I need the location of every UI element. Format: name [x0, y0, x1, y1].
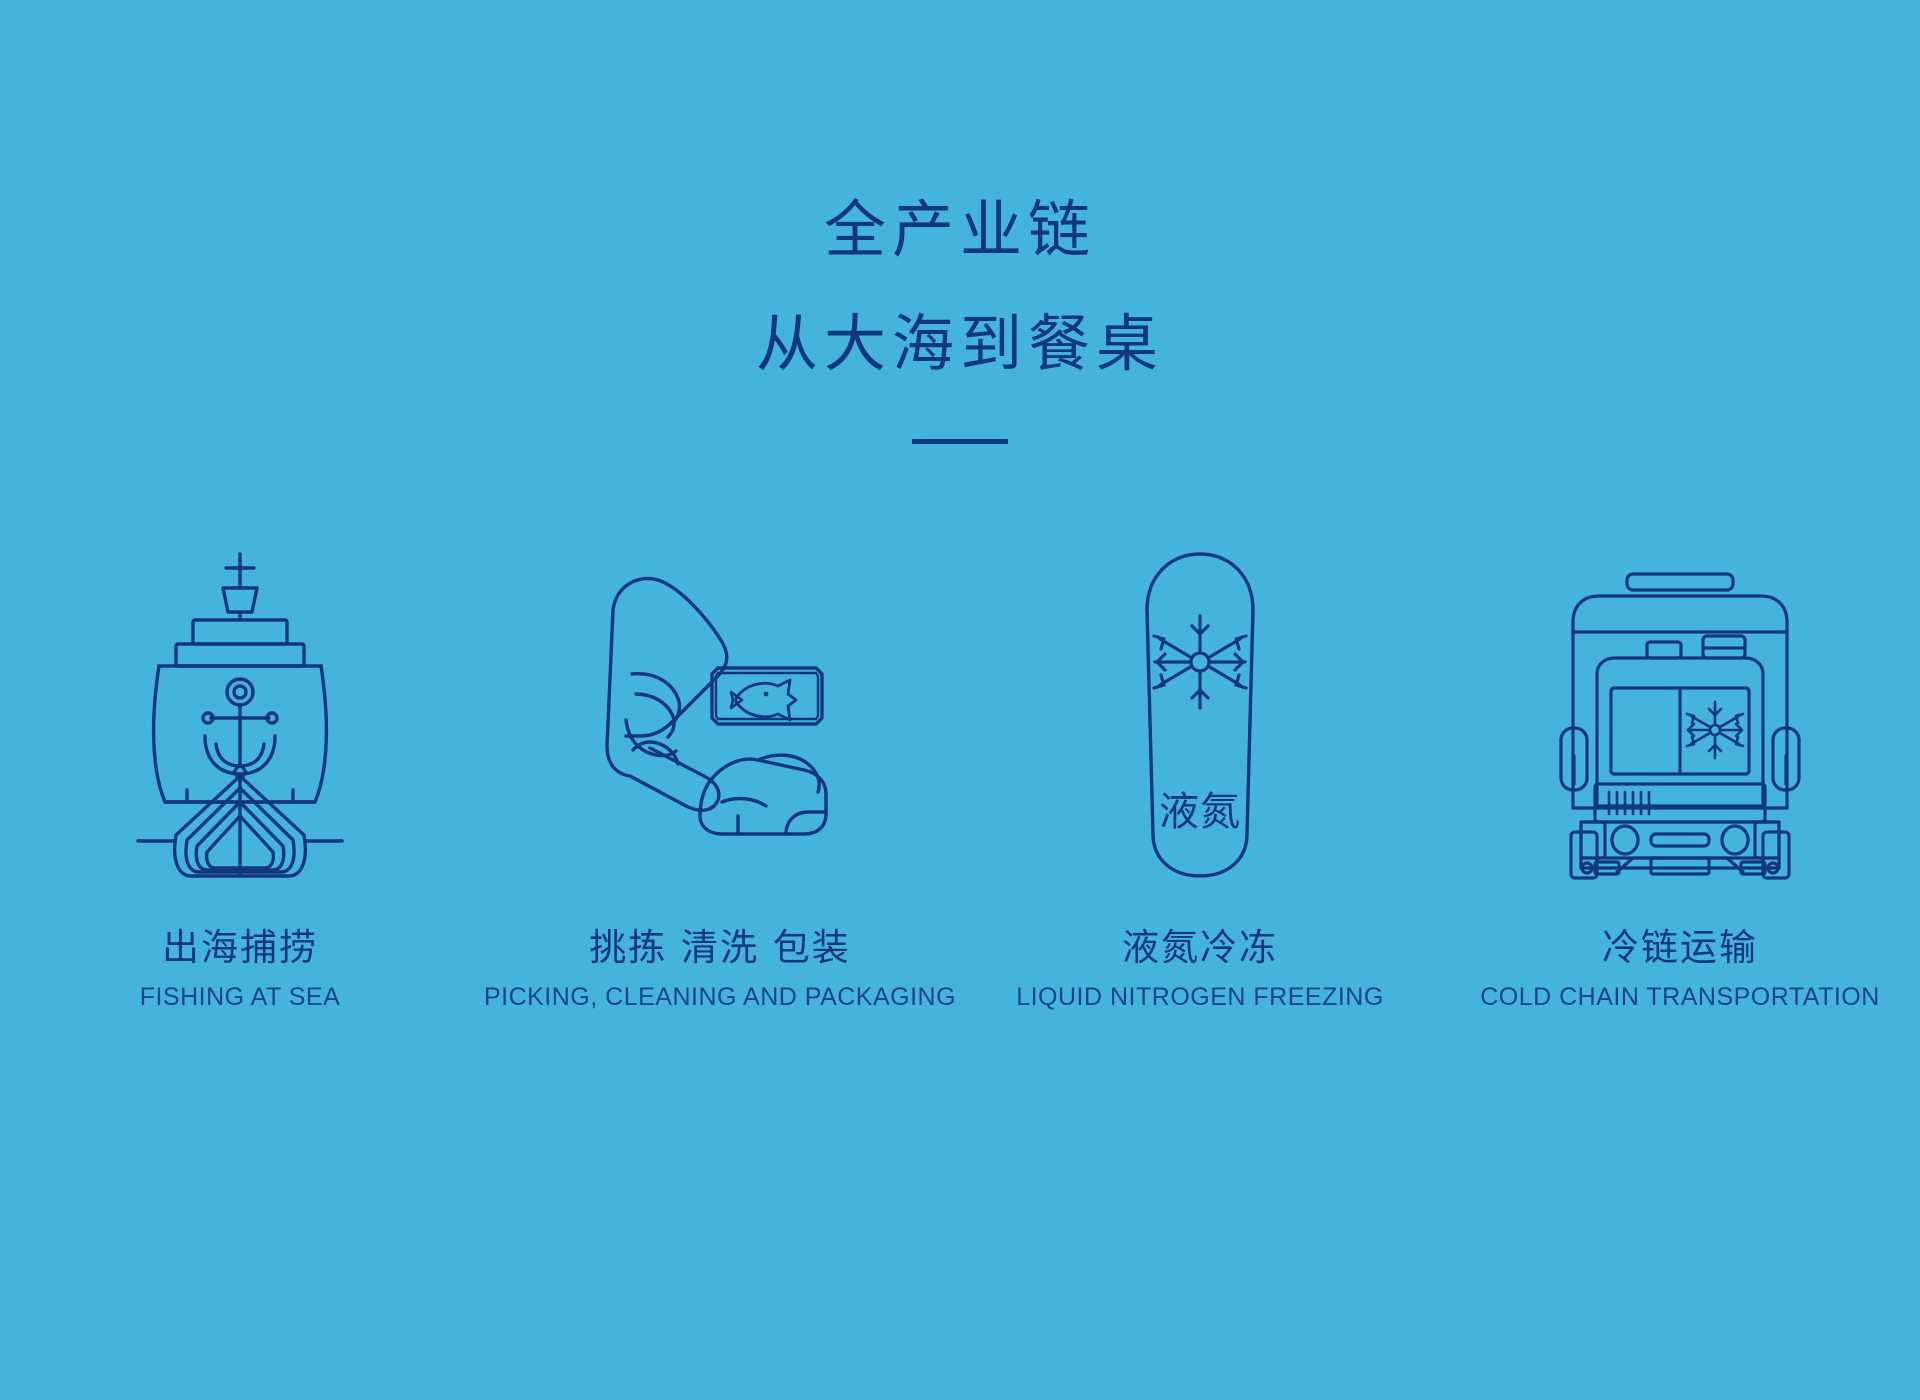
- page-title-line-1: 全产业链: [0, 175, 1920, 285]
- page-heading: 全产业链 从大海到餐桌: [0, 175, 1920, 444]
- title-divider-wrap: [0, 439, 1920, 444]
- snowflake-icon: [1687, 702, 1743, 758]
- hands-with-packaged-fish-icon: [590, 570, 850, 880]
- snowflake-icon: [1154, 616, 1246, 708]
- step-labels-4: 冷链运输 COLD CHAIN TRANSPORTATION: [1480, 924, 1880, 1012]
- tank-caption: 液氮: [1159, 789, 1241, 835]
- step-art-2: [590, 520, 850, 880]
- title-divider: [912, 439, 1008, 444]
- step-label-cn-3: 液氮冷冻: [1016, 924, 1384, 972]
- step-labels-2: 挑拣 清洗 包装 PICKING, CLEANING AND PACKAGING: [484, 924, 956, 1012]
- step-label-en-3: LIQUID NITROGEN FREEZING: [1016, 982, 1384, 1012]
- step-liquid-nitrogen-freezing[interactable]: 液氮 液氮冷冻 LIQUID NITROGEN FREEZING: [960, 520, 1440, 1012]
- step-label-cn-1: 出海捕捞: [140, 924, 341, 972]
- step-label-cn-4: 冷链运输: [1480, 924, 1880, 972]
- step-art-1: [135, 520, 345, 880]
- step-art-4: [1555, 520, 1805, 880]
- page-title-line-2: 从大海到餐桌: [0, 289, 1920, 399]
- step-label-cn-2: 挑拣 清洗 包装: [484, 924, 956, 972]
- step-art-3: 液氮: [1135, 520, 1265, 880]
- step-label-en-1: FISHING AT SEA: [140, 982, 341, 1012]
- page-root: 全产业链 从大海到餐桌: [0, 0, 1920, 1400]
- step-label-en-2: PICKING, CLEANING AND PACKAGING: [484, 982, 956, 1012]
- step-picking-cleaning-packaging[interactable]: 挑拣 清洗 包装 PICKING, CLEANING AND PACKAGING: [480, 520, 960, 1012]
- step-label-en-4: COLD CHAIN TRANSPORTATION: [1480, 982, 1880, 1012]
- step-labels-1: 出海捕捞 FISHING AT SEA: [140, 924, 341, 1012]
- refrigerated-truck-icon: [1555, 570, 1805, 880]
- process-steps: 出海捕捞 FISHING AT SEA: [0, 520, 1920, 1012]
- liquid-nitrogen-tank-icon: 液氮: [1135, 550, 1265, 880]
- step-fishing-at-sea[interactable]: 出海捕捞 FISHING AT SEA: [0, 520, 480, 1012]
- fishing-boat-icon: [135, 550, 345, 880]
- step-labels-3: 液氮冷冻 LIQUID NITROGEN FREEZING: [1016, 924, 1384, 1012]
- step-cold-chain-transportation[interactable]: 冷链运输 COLD CHAIN TRANSPORTATION: [1440, 520, 1920, 1012]
